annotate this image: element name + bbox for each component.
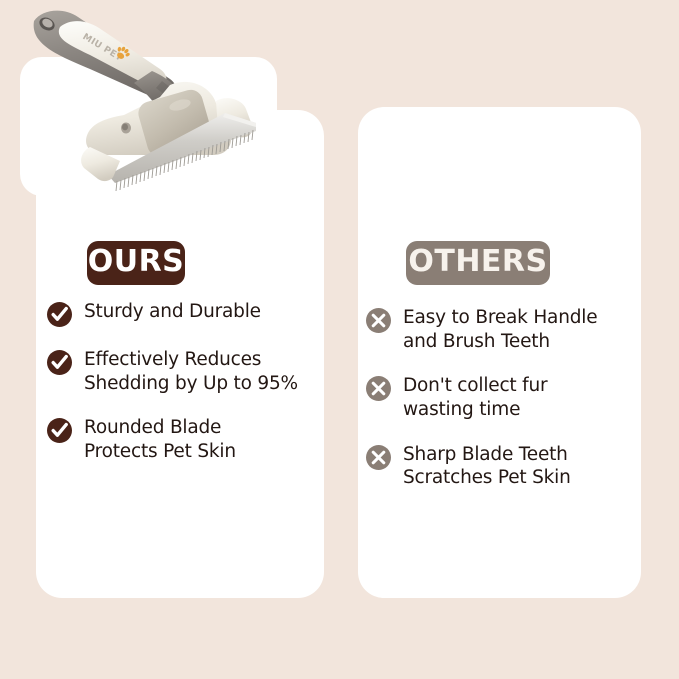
feature-item: Rounded Blade Protects Pet Skin: [47, 416, 319, 463]
feature-label: Easy to Break Handle and Brush Teeth: [403, 306, 597, 353]
product-photo-tile: MIU PET: [20, 57, 277, 196]
check-circle-icon: [47, 302, 72, 327]
badge-others: OTHERS: [406, 241, 550, 285]
feature-item: Sturdy and Durable: [47, 300, 319, 327]
feature-list-ours: Sturdy and Durable Effectively Reduces S…: [47, 300, 319, 485]
feature-item: Easy to Break Handle and Brush Teeth: [366, 306, 636, 353]
check-circle-icon: [47, 350, 72, 375]
feature-item: Sharp Blade Teeth Scratches Pet Skin: [366, 443, 636, 490]
badge-ours: OURS: [87, 241, 185, 285]
feature-label: Sturdy and Durable: [84, 300, 261, 324]
grooming-brush-image: MIU PET: [20, 5, 277, 205]
feature-list-others: Easy to Break Handle and Brush Teeth Don…: [366, 306, 636, 511]
feature-item: Don't collect fur wasting time: [366, 374, 636, 421]
check-circle-icon: [47, 418, 72, 443]
feature-label: Don't collect fur wasting time: [403, 374, 547, 421]
feature-item: Effectively Reduces Shedding by Up to 95…: [47, 348, 319, 395]
svg-text:MIU PET: MIU PET: [81, 32, 125, 64]
cross-circle-icon: [366, 376, 391, 401]
cross-circle-icon: [366, 308, 391, 333]
feature-label: Effectively Reduces Shedding by Up to 95…: [84, 348, 298, 395]
brand-logo: MIU PET: [81, 26, 133, 67]
feature-label: Rounded Blade Protects Pet Skin: [84, 416, 236, 463]
cross-circle-icon: [366, 445, 391, 470]
comparison-infographic: MIU PET: [0, 0, 679, 679]
feature-label: Sharp Blade Teeth Scratches Pet Skin: [403, 443, 571, 490]
